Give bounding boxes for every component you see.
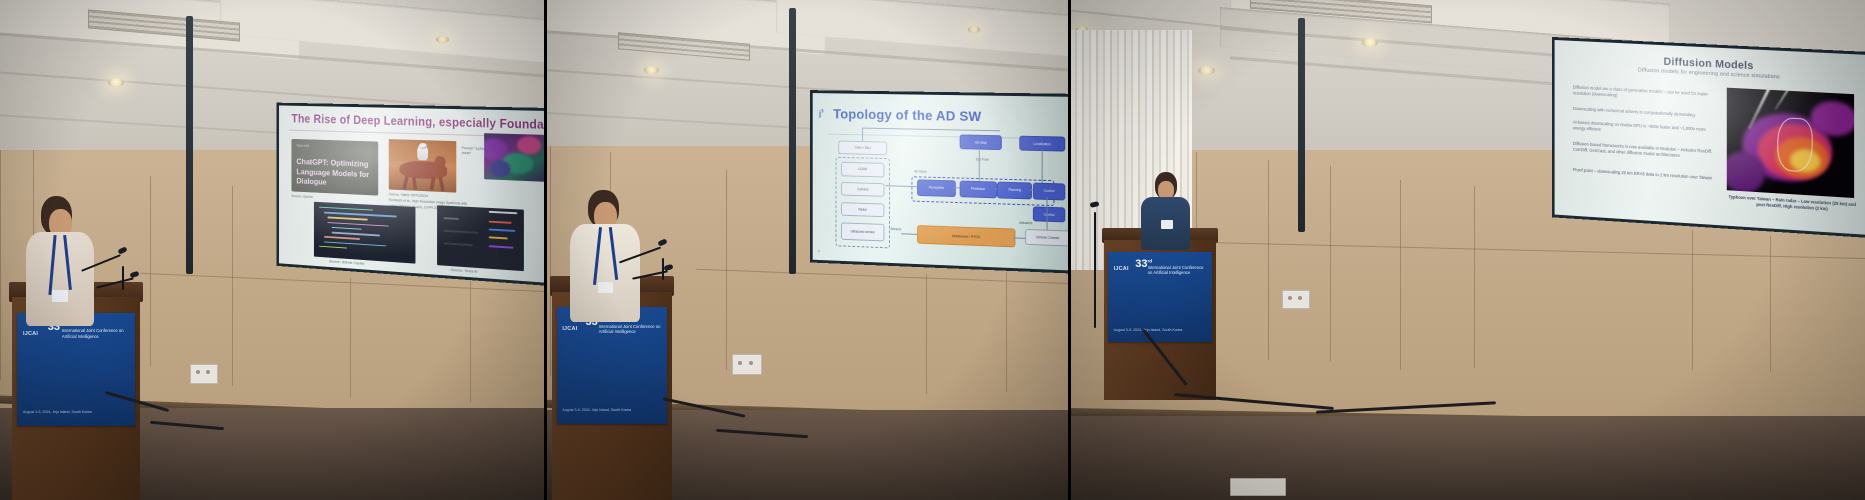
screen-surface: The Rise of Deep Learning, especially Fo… bbox=[279, 105, 546, 282]
edge-plan-ctrl bbox=[1030, 189, 1033, 190]
conference-name: International Joint Conference on Artifi… bbox=[1148, 265, 1208, 276]
panel-divider-1 bbox=[544, 0, 547, 500]
ceiling-downlight bbox=[108, 78, 124, 87]
horse-leg bbox=[402, 175, 408, 189]
wall-seam bbox=[150, 176, 151, 366]
mic-head bbox=[129, 271, 139, 279]
astronaut-horse-image bbox=[389, 139, 457, 193]
code-line bbox=[319, 246, 347, 249]
microphone-left-2 bbox=[96, 262, 150, 322]
ui-bar bbox=[489, 237, 508, 240]
wall-seam bbox=[350, 278, 351, 398]
astronaut-helmet bbox=[419, 143, 427, 149]
horse-leg bbox=[439, 177, 445, 191]
ui-bar bbox=[489, 245, 514, 249]
panel-right: Diffusion Models Diffusion models for en… bbox=[1070, 0, 1865, 500]
conference-number-value: 33 bbox=[1135, 258, 1147, 270]
wall-outlet bbox=[732, 354, 762, 375]
name-badge bbox=[598, 282, 613, 293]
ui-bar bbox=[444, 242, 473, 246]
edge-ctrl-chassis bbox=[1047, 197, 1048, 230]
projection-screen-middle: j3 Topology of the AD SW Sensor Set CAN … bbox=[810, 90, 1070, 274]
photo-collage: The Rise of Deep Learning, especially Fo… bbox=[0, 0, 1865, 500]
node-planning: Planning bbox=[997, 182, 1032, 200]
mic-arm bbox=[632, 270, 668, 279]
podium-banner: IJCAI 33rd International Joint Conferenc… bbox=[557, 307, 667, 423]
edge-hdmap-down bbox=[978, 149, 979, 182]
ceiling-downlight bbox=[436, 36, 449, 43]
edge-label-sensors: Sensors bbox=[891, 228, 902, 232]
wall-seam bbox=[1268, 160, 1269, 360]
wall-seam bbox=[1330, 166, 1331, 361]
code-line bbox=[319, 207, 373, 211]
node-localization: Localization bbox=[1019, 136, 1065, 152]
ui-bar bbox=[489, 228, 515, 231]
outlet-hole bbox=[1298, 296, 1302, 300]
wall-seam bbox=[1770, 236, 1771, 372]
bullet-5: Proof point – downscaling 25 km ERA5 dat… bbox=[1573, 167, 1715, 182]
bullet-2: Downscaling with numerical solvers is co… bbox=[1573, 106, 1715, 120]
podium-banner: IJCAI 33rd International Joint Conferenc… bbox=[1108, 252, 1211, 341]
bottom-left-caption: Source: GitHub Copilot bbox=[329, 260, 364, 266]
outlet-hole bbox=[206, 370, 210, 374]
chatgpt-headline: ChatGPT: Optimizing Language Models for … bbox=[296, 157, 374, 189]
taiwan-outline bbox=[1778, 117, 1813, 173]
code-line bbox=[324, 236, 360, 240]
outlet-hole bbox=[1288, 296, 1292, 300]
wall-seam bbox=[1400, 180, 1401, 370]
outlet-hole bbox=[196, 370, 200, 374]
podium-right: IJCAI 33rd International Joint Conferenc… bbox=[1104, 228, 1216, 400]
j3-logo-sup: 3 bbox=[821, 108, 824, 114]
j3-logo: j3 bbox=[819, 108, 824, 117]
mic-post bbox=[1094, 212, 1096, 328]
name-badge bbox=[52, 290, 68, 302]
typhoon-radar-image bbox=[1727, 87, 1854, 198]
code-line bbox=[332, 232, 380, 236]
radar-front-line bbox=[1775, 87, 1793, 110]
mic-head bbox=[663, 264, 673, 271]
wall-seam bbox=[1474, 186, 1475, 368]
segmentation-map-image bbox=[484, 133, 544, 181]
conference-date: August 3-9, 2024, Jeju Island, South Kor… bbox=[23, 410, 130, 414]
wall-seam bbox=[550, 146, 551, 376]
room-right: Diffusion Models Diffusion models for en… bbox=[1070, 0, 1865, 500]
wall-seam bbox=[926, 274, 927, 394]
ceiling-downlight bbox=[968, 26, 980, 33]
ceiling-downlight bbox=[1198, 66, 1215, 75]
edge-label-actuators: Actuators bbox=[1019, 221, 1032, 225]
edge-loc-down bbox=[1041, 150, 1042, 183]
node-can-imu: CAN + IMU bbox=[838, 140, 887, 155]
wall-seam bbox=[232, 186, 233, 386]
bullet-1: Diffusion model are a class of generativ… bbox=[1573, 85, 1715, 104]
edge-mw-in bbox=[901, 233, 917, 235]
group-label-ad-stack: AD Stack bbox=[914, 170, 927, 174]
conference-name: International Joint Conference on Artifi… bbox=[599, 324, 663, 335]
openai-brand: OpenAI bbox=[296, 143, 309, 148]
chatgpt-card: OpenAI ChatGPT: Optimizing Language Mode… bbox=[291, 139, 378, 196]
wall-seam bbox=[1006, 272, 1007, 392]
conference-name: International Joint Conference on Artifi… bbox=[62, 328, 130, 339]
outlet-hole bbox=[738, 361, 742, 365]
node-hd-map: HD Map bbox=[960, 134, 1002, 150]
ijcai-logo: IJCAI bbox=[562, 326, 577, 332]
floor bbox=[1070, 416, 1865, 500]
node-ultrasonic: Ultrasonic sensor bbox=[841, 222, 884, 241]
edge-top-bus bbox=[862, 127, 1000, 131]
projection-screen-left: The Rise of Deep Learning, especially Fo… bbox=[277, 103, 546, 286]
room-left: The Rise of Deep Learning, especially Fo… bbox=[0, 0, 546, 500]
projection-screen-right: Diffusion Models Diffusion models for en… bbox=[1552, 37, 1865, 238]
ceiling-downlight bbox=[644, 66, 659, 74]
mic-head bbox=[657, 238, 667, 246]
room-middle: j3 Topology of the AD SW Sensor Set CAN … bbox=[546, 0, 1070, 500]
ijcai-logo: IJCAI bbox=[1114, 266, 1129, 272]
node-perception: Perception bbox=[917, 179, 956, 197]
conference-date: August 3-9, 2024, Jeju Island, South Kor… bbox=[562, 408, 662, 412]
microphone-middle-2 bbox=[632, 254, 684, 312]
slide-title: Topology of the AD SW bbox=[833, 106, 981, 124]
tesla-ui-screenshot bbox=[437, 205, 524, 271]
outlet-hole bbox=[749, 361, 753, 365]
microphone-stand-right bbox=[1078, 198, 1114, 328]
code-line bbox=[332, 227, 362, 230]
mic-arm bbox=[96, 277, 133, 288]
node-control: Control bbox=[1033, 183, 1065, 201]
conference-ordinal: rd bbox=[1148, 259, 1153, 264]
mic-head bbox=[1090, 201, 1100, 208]
slide-right: Diffusion Models Diffusion models for en… bbox=[1555, 40, 1865, 235]
node-vehicle-chassis: Vehicle Chassis bbox=[1025, 229, 1070, 247]
code-line bbox=[328, 222, 389, 227]
code-screenshot bbox=[314, 202, 415, 263]
code-line bbox=[328, 217, 368, 221]
edge-pred-plan bbox=[995, 188, 998, 189]
edge-perc-pred bbox=[954, 187, 959, 188]
screen-roller bbox=[1298, 18, 1305, 232]
ui-bar bbox=[489, 221, 512, 224]
node-lidar: LiDAR bbox=[841, 162, 884, 177]
ui-bar bbox=[444, 217, 459, 220]
node-camera: Camera bbox=[841, 182, 884, 197]
bottom-right-caption: Source: Tesla AI bbox=[451, 268, 478, 274]
slide-title: The Rise of Deep Learning, especially Fo… bbox=[291, 112, 538, 132]
wall-seam bbox=[0, 150, 1, 380]
bullet-4: Diffusion based frameworks is now availa… bbox=[1573, 141, 1715, 161]
panel-divider-2 bbox=[1068, 0, 1071, 500]
wall-seam bbox=[470, 272, 471, 402]
panel-left: The Rise of Deep Learning, especially Fo… bbox=[0, 0, 546, 500]
edge-sensors-perception bbox=[885, 185, 917, 187]
panel-middle: j3 Topology of the AD SW Sensor Set CAN … bbox=[546, 0, 1070, 500]
ijcai-logo: IJCAI bbox=[23, 331, 38, 337]
screen-roller bbox=[789, 8, 796, 274]
screen-surface: Diffusion Models Diffusion models for en… bbox=[1555, 40, 1865, 235]
code-line bbox=[324, 241, 387, 246]
ui-bar bbox=[489, 211, 517, 214]
wall-seam bbox=[1692, 230, 1693, 370]
slide-middle: j3 Topology of the AD SW Sensor Set CAN … bbox=[813, 93, 1070, 271]
screen-surface: j3 Topology of the AD SW Sensor Set CAN … bbox=[813, 93, 1070, 271]
node-control-out: Control bbox=[1033, 207, 1065, 223]
screen-roller bbox=[186, 16, 193, 274]
mic-head bbox=[117, 246, 127, 254]
map-blob bbox=[490, 160, 510, 177]
conference-date: August 3-9, 2024, Jeju Island, South Kor… bbox=[1114, 328, 1208, 332]
slide-left: The Rise of Deep Learning, especially Fo… bbox=[279, 105, 546, 282]
name-badge bbox=[1161, 220, 1173, 229]
wall-outlet bbox=[190, 364, 218, 384]
bullet-3: AI-based downscaling on Nvidia GPU is ~5… bbox=[1573, 120, 1715, 140]
page-number: 3 bbox=[818, 249, 820, 253]
node-radar: Radar bbox=[841, 202, 884, 217]
node-prediction: Prediction bbox=[960, 181, 997, 199]
ceiling-downlight bbox=[1362, 38, 1378, 47]
edge-top-drop bbox=[862, 127, 863, 140]
wall-outlet bbox=[1282, 290, 1310, 309]
floor-cable-cover bbox=[1230, 478, 1286, 496]
speaker-right bbox=[1140, 172, 1196, 250]
node-middleware: Middleware / RTOS bbox=[917, 225, 1016, 248]
chatgpt-source: Source: OpenAI bbox=[291, 194, 373, 203]
ui-bar bbox=[444, 229, 478, 233]
podium-banner: IJCAI 33rd International Joint Conferenc… bbox=[17, 313, 135, 426]
